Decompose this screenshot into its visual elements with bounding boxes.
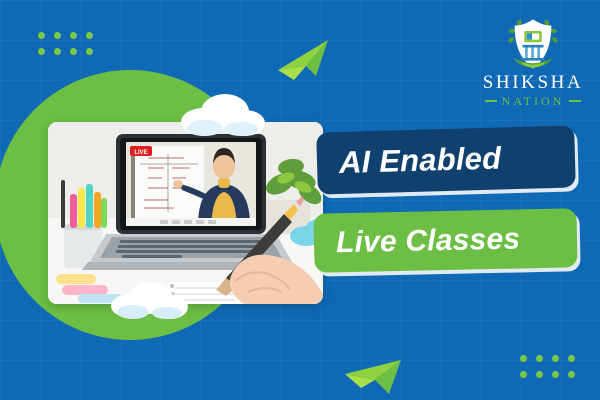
dot	[86, 48, 93, 55]
dot	[38, 32, 45, 39]
dot	[54, 48, 61, 55]
dash-right	[569, 100, 581, 102]
dot-grid-top-left	[38, 32, 93, 55]
dot	[520, 371, 527, 378]
dot	[552, 371, 559, 378]
headline-banner-ai-enabled: AI Enabled	[316, 125, 576, 194]
dot	[38, 48, 45, 55]
live-badge: LIVE	[130, 146, 152, 156]
svg-text:LIVE: LIVE	[134, 150, 147, 156]
brand-logo[interactable]: SHIKSHA NATION	[478, 16, 588, 108]
promo-banner-canvas: LIVE	[0, 0, 600, 400]
dot	[568, 371, 575, 378]
dot	[70, 32, 77, 39]
dot	[86, 32, 93, 39]
shield-crest-icon	[505, 16, 561, 72]
brand-name-secondary: NATION	[502, 95, 565, 107]
headline-banner-live-classes: Live Classes	[313, 208, 577, 272]
paper-plane-icon	[345, 358, 405, 400]
hero-photo: LIVE	[48, 122, 323, 304]
dot	[54, 32, 61, 39]
dot	[536, 355, 543, 362]
brand-name-secondary-row: NATION	[478, 95, 588, 107]
dot-grid-bottom-right	[520, 355, 575, 378]
dot	[536, 371, 543, 378]
dot	[70, 48, 77, 55]
brand-name-primary: SHIKSHA	[478, 73, 588, 92]
headline-line-2: Live Classes	[336, 222, 521, 260]
hero-photo-illustration: LIVE	[48, 122, 323, 304]
dot	[520, 355, 527, 362]
paper-plane-icon	[276, 36, 332, 97]
dot	[552, 355, 559, 362]
headline-line-1: AI Enabled	[339, 140, 502, 181]
dash-left	[485, 100, 497, 102]
dot	[568, 355, 575, 362]
